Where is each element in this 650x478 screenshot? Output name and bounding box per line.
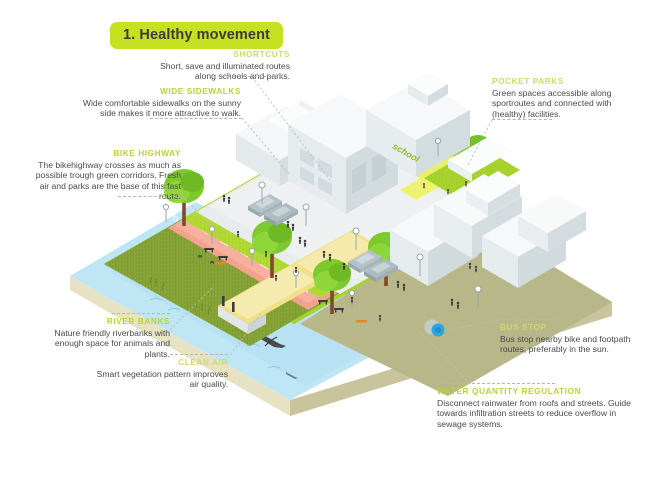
tick-bus-stop: [500, 319, 558, 320]
callout-clean-air-head: CLEAN AIR: [96, 357, 228, 368]
tick-water-quantity-regulation: [437, 383, 555, 384]
callout-water-quantity-regulation-body: Disconnect rainwater from roofs and stre…: [437, 398, 637, 429]
callout-clean-air: CLEAN AIR Smart vegetation pattern impro…: [96, 357, 228, 390]
callout-wide-sidewalks: WIDE SIDEWALKS Wide comfortable sidewalk…: [76, 86, 241, 119]
tick-pocket-parks: [492, 119, 552, 120]
callout-clean-air-body: Smart vegetation pattern improves air qu…: [96, 369, 228, 390]
callout-river-banks: RIVER BANKS Nature friendly riverbanks w…: [32, 316, 170, 359]
callout-bus-stop-head: BUS STOP: [500, 322, 640, 333]
tick-wide-sidewalks: [150, 118, 242, 119]
callout-shortcuts-body: Short, save and illuminated routes along…: [148, 61, 290, 82]
tick-clean-air: [170, 354, 228, 355]
tick-bike-highway: [118, 196, 182, 197]
page-title: 1. Healthy movement: [110, 22, 283, 49]
callout-bus-stop: BUS STOP Bus stop nearby bike and footpa…: [500, 322, 640, 355]
callout-pocket-parks: POCKET PARKS Green spaces accessible alo…: [492, 76, 644, 119]
callout-river-banks-body: Nature friendly riverbanks with enough s…: [32, 328, 170, 359]
callout-pocket-parks-body: Green spaces accessible along sportroute…: [492, 88, 644, 119]
tick-river-banks: [112, 313, 170, 314]
callout-pocket-parks-head: POCKET PARKS: [492, 76, 644, 87]
callout-bike-highway: BIKE HIGHWAY The bikehighway crosses as …: [33, 148, 181, 202]
infographic-canvas: school: [0, 0, 650, 478]
callout-wide-sidewalks-head: WIDE SIDEWALKS: [76, 86, 241, 97]
callout-bike-highway-head: BIKE HIGHWAY: [33, 148, 181, 159]
callout-bus-stop-body: Bus stop nearby bike and footpath routes…: [500, 334, 640, 355]
callout-river-banks-head: RIVER BANKS: [32, 316, 170, 327]
callout-water-quantity-regulation-head: WATER QUANTITY REGULATION: [437, 386, 637, 397]
callout-wide-sidewalks-body: Wide comfortable sidewalks on the sunny …: [76, 98, 241, 119]
callout-water-quantity-regulation: WATER QUANTITY REGULATION Disconnect rai…: [437, 386, 637, 429]
tick-shortcuts: [222, 76, 282, 77]
callout-shortcuts-head: SHORTCUTS: [148, 49, 290, 60]
